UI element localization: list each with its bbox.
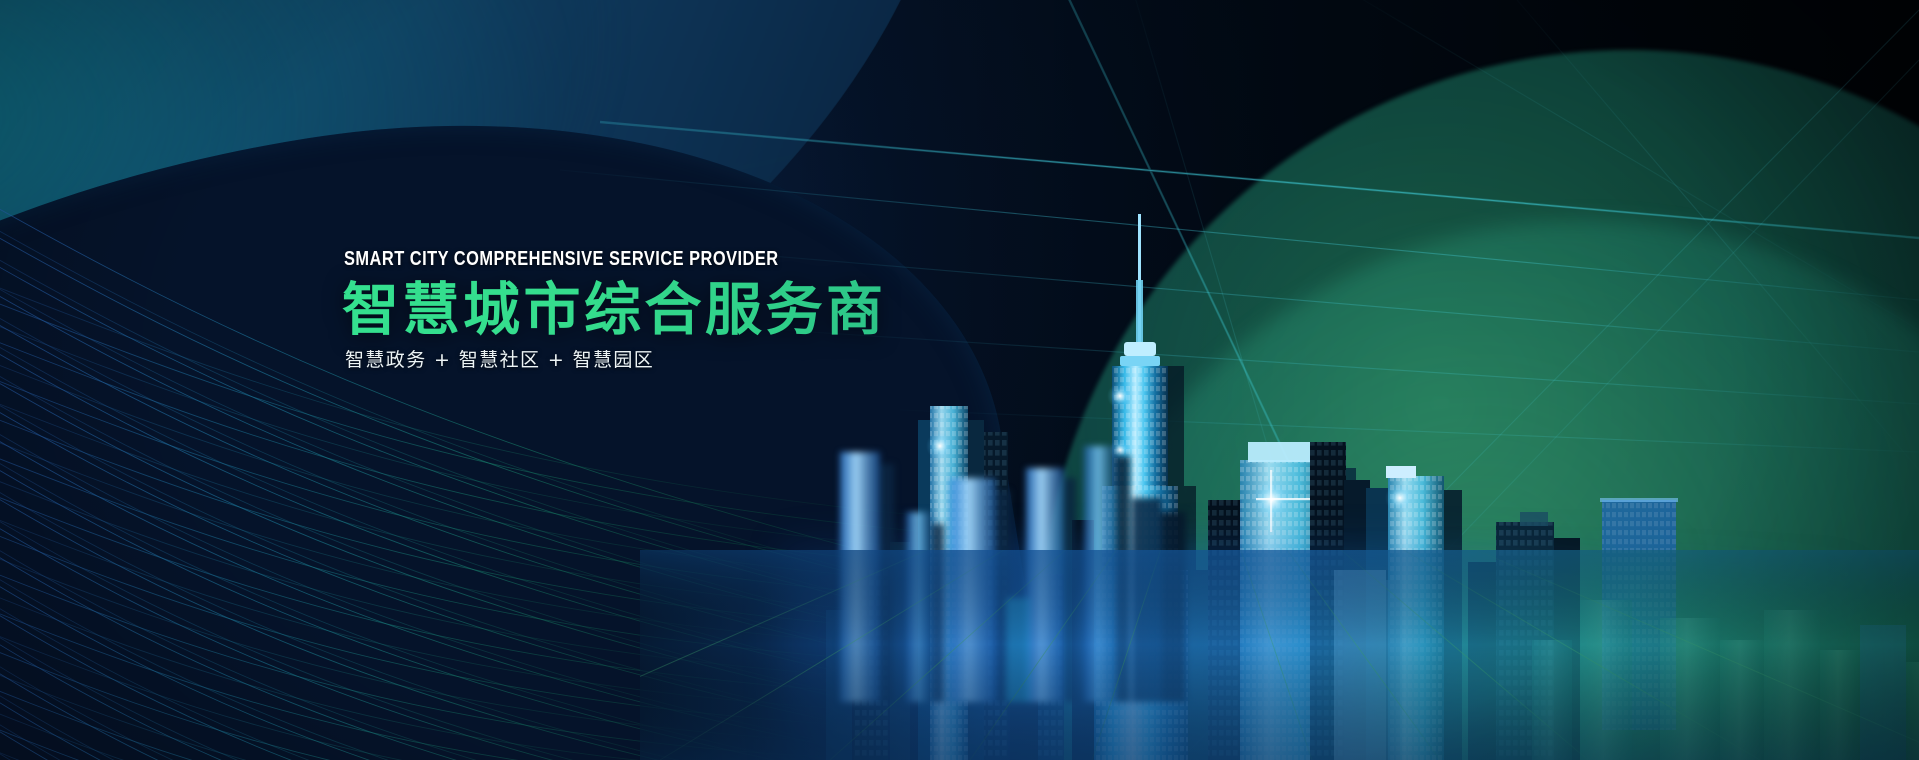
hero-copy-block: SMART CITY COMPREHENSIVE SERVICE PROVIDE… bbox=[342, 249, 1222, 373]
banner-subheadline: 智慧政务 + 智慧社区 + 智慧园区 bbox=[345, 348, 1222, 373]
banner-eyebrow-text: SMART CITY COMPREHENSIVE SERVICE PROVIDE… bbox=[344, 249, 1046, 270]
smart-city-hero-banner: SMART CITY COMPREHENSIVE SERVICE PROVIDE… bbox=[0, 0, 1919, 760]
banner-headline: 智慧城市综合服务商 bbox=[342, 279, 1222, 342]
